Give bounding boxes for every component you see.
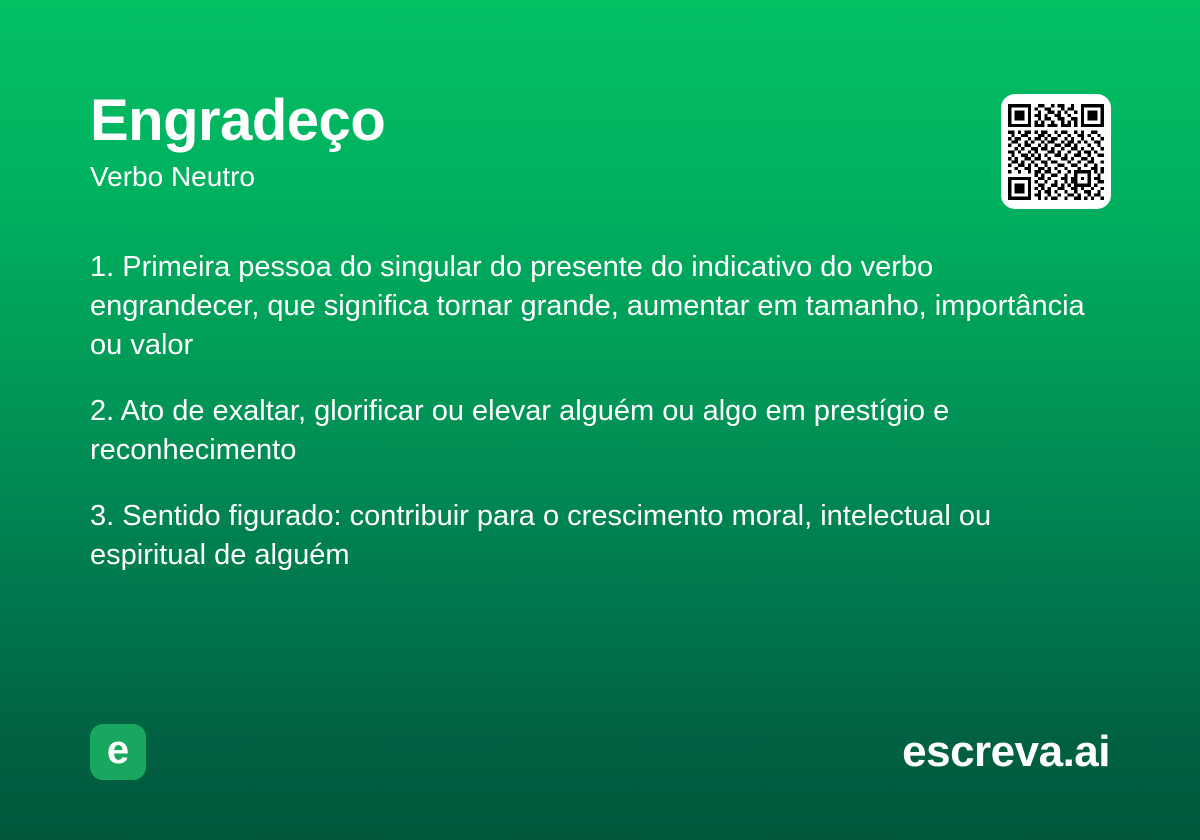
definition-list: 1. Primeira pessoa do singular do presen… <box>90 248 1110 575</box>
definition-item: 3. Sentido figurado: contribuir para o c… <box>90 497 1105 575</box>
word-class-label: Verbo Neutro <box>90 160 1110 194</box>
definition-item: 1. Primeira pessoa do singular do presen… <box>90 248 1105 365</box>
brand-wordmark: escreva.ai <box>902 728 1110 776</box>
escreva-logo-icon: e <box>90 724 146 780</box>
qr-code-icon <box>1008 104 1104 200</box>
page-title: Engradeço <box>90 88 1110 154</box>
logo-letter: e <box>107 730 129 770</box>
qr-code-panel[interactable] <box>1001 94 1111 209</box>
word-definition-card: Engradeço Verbo Neutro <box>0 0 1200 840</box>
definition-item: 2. Ato de exaltar, glorificar ou elevar … <box>90 392 1105 470</box>
card-header: Engradeço Verbo Neutro <box>90 88 1110 194</box>
card-footer: e escreva.ai <box>90 724 1110 780</box>
